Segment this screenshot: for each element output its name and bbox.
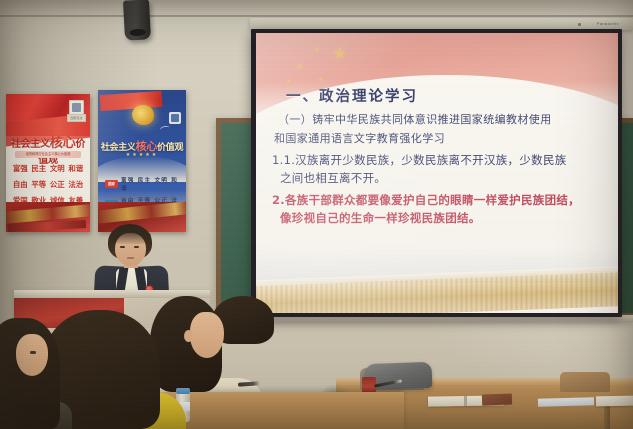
housing-brand-label: Panasonic xyxy=(597,21,619,26)
value-word: 和谐 xyxy=(67,163,86,174)
face xyxy=(190,312,224,358)
ear xyxy=(184,330,193,342)
value-word: 文明 xyxy=(48,163,67,174)
slide-subheading-line2: 和国家通用语言文字教育强化学习 xyxy=(274,131,602,147)
bottle-cap xyxy=(176,388,190,394)
presenter-fringe xyxy=(110,228,151,244)
chair-right xyxy=(560,372,610,392)
slide-point1-line1: 1.1.汉族离开少数民族，少数民族离不开汉族，少数民族 xyxy=(272,152,602,169)
value-word: 平等 xyxy=(30,179,49,190)
value-word: 法治 xyxy=(67,179,86,190)
slide-heading: 一、政治理论学习 xyxy=(286,85,602,106)
slide-point2-line2: 像珍视自己的生命一样珍视民族团结。 xyxy=(280,210,602,228)
poster-ribbon-text: 培育和践行社会主义核心价值观 xyxy=(15,151,81,158)
notebook-spine xyxy=(464,396,467,406)
slide-content: 一、政治理论学习 （一）铸牢中华民族共同体意识推进国家统编教材使用 和国家通用语… xyxy=(256,33,618,313)
poster-footer-graphic xyxy=(6,202,90,232)
desk-leg xyxy=(604,404,610,429)
value-word: 公正 xyxy=(48,179,67,190)
poster-core-values-red: 国家宪法 社会主义核心价值观 SOCIALIST CORE VALUES 培育和… xyxy=(6,94,90,232)
face xyxy=(16,334,48,376)
slide-subheading-line1: （一）铸牢中华民族共同体意识推进国家统编教材使用 xyxy=(278,112,602,128)
value-word: 富强 xyxy=(11,163,30,174)
poster-values-grid: 富强 民主 文明 和谐 自由 平等 公正 法治 爱国 敬业 诚信 友善 xyxy=(11,163,85,206)
slide-point1-line2: 之间也相互离不开。 xyxy=(280,170,602,187)
housing-led-icon xyxy=(578,23,581,26)
poster-glare xyxy=(98,90,186,232)
paper-sheet xyxy=(538,397,594,406)
poster-title: 社会主义核心价值观 xyxy=(6,132,90,166)
presenter-mouth xyxy=(127,257,134,259)
eye xyxy=(30,351,36,354)
notebook xyxy=(596,396,633,407)
folder xyxy=(482,393,512,405)
presenter-eye xyxy=(134,246,139,248)
slide-point2-line1: 2.各族干部群众都要像爱护自己的眼睛一样爱护民族团结， xyxy=(272,192,602,210)
attendee-left-dark-jacket xyxy=(0,318,68,429)
poster-emblem-icon xyxy=(69,100,84,115)
ceiling-speaker xyxy=(123,0,151,41)
poster-emblem-caption: 国家宪法 xyxy=(67,114,86,122)
classroom-photo: Panasonic ★ ★ ★ ★ ★ 一、政治理论学习 （一）铸牢中华民族共同… xyxy=(0,0,633,429)
poster-english-caption: SOCIALIST CORE VALUES xyxy=(6,145,90,148)
value-word: 民主 xyxy=(30,163,49,174)
value-word: 自由 xyxy=(11,179,30,190)
poster-core-values-blue: 社会主义核心价值观 ★★★★★ 国家 富强 民主 文明 和谐 社会 自由 平等 … xyxy=(98,90,186,232)
poster-title-accent: 核心 xyxy=(50,136,76,151)
projection-screen: ★ ★ ★ ★ ★ 一、政治理论学习 （一）铸牢中华民族共同体意识推进国家统编教… xyxy=(256,33,618,313)
poster-ribbon: 培育和践行社会主义核心价值观 xyxy=(15,151,81,158)
presenter-eye xyxy=(120,246,125,248)
